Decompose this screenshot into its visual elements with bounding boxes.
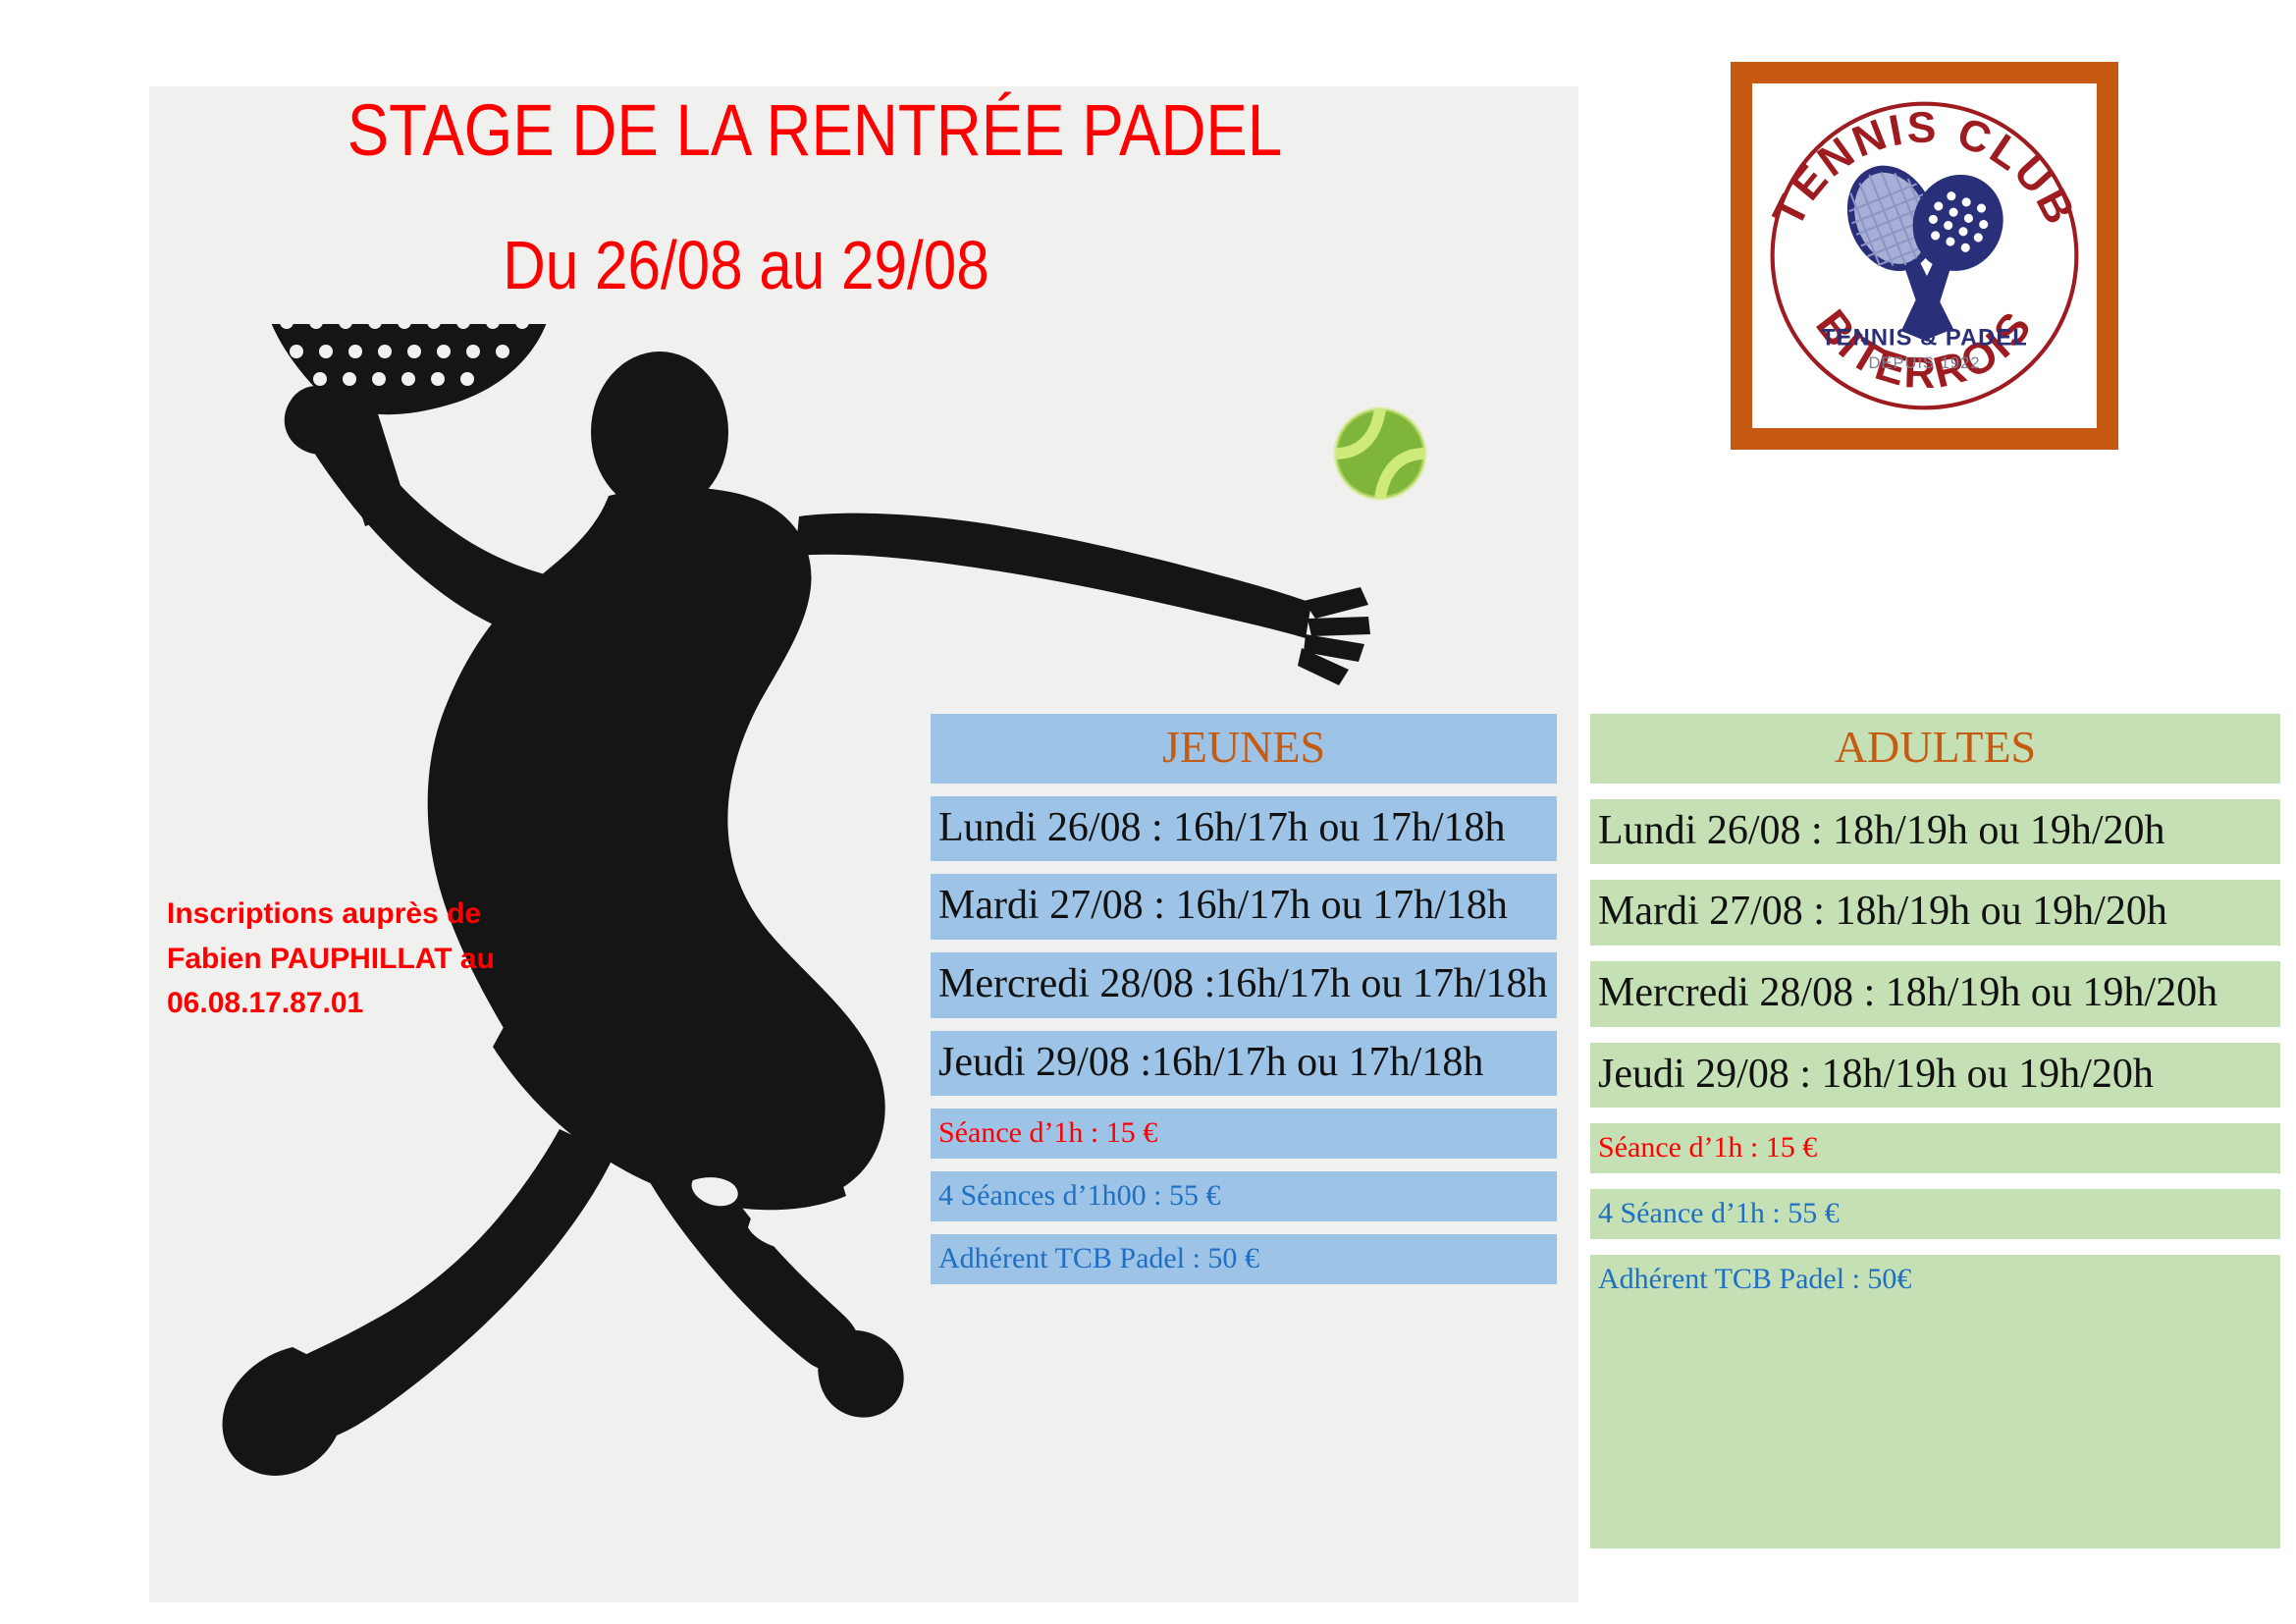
club-logo: TENNIS CLUB BITERROIS (1731, 62, 2118, 450)
logo-center-line-2: DEPUIS 1922 (1868, 354, 1980, 372)
table-row: Jeudi 29/08 : 18h/19h ou 19h/20h (1590, 1043, 2280, 1109)
table-row: Jeudi 29/08 :16h/17h ou 17h/18h (931, 1031, 1557, 1097)
price-row: Adhérent TCB Padel : 50€ (1590, 1255, 2280, 1305)
schedule-table-jeunes: JEUNES Lundi 26/08 : 16h/17h ou 17h/18h … (931, 714, 1557, 1284)
schedule-table-adultes: ADULTES Lundi 26/08 : 18h/19h ou 19h/20h… (1590, 714, 2280, 1548)
price-row: Séance d’1h : 15 € (1590, 1123, 2280, 1173)
page-title: STAGE DE LA RENTRÉE PADEL (266, 88, 1363, 172)
table-row: Mardi 27/08 : 16h/17h ou 17h/18h (931, 874, 1557, 940)
price-row: Séance d’1h : 15 € (931, 1109, 1557, 1159)
price-row: 4 Séance d’1h : 55 € (1590, 1189, 2280, 1239)
tennis-club-biterrois-logo-icon: TENNIS CLUB BITERROIS (1752, 83, 2097, 428)
table-filler-adultes (1590, 1305, 2280, 1548)
inscription-block: Inscriptions auprès de Fabien PAUPHILLAT… (167, 892, 628, 1026)
table-row: Mercredi 28/08 :16h/17h ou 17h/18h (931, 952, 1557, 1018)
table-row: Mercredi 28/08 : 18h/19h ou 19h/20h (1590, 961, 2280, 1027)
price-row: 4 Séances d’1h00 : 55 € (931, 1171, 1557, 1221)
table-row: Lundi 26/08 : 16h/17h ou 17h/18h (931, 796, 1557, 862)
logo-center-line-1: TENNIS & PADEL (1821, 325, 2028, 351)
inscription-phone: 06.08.17.87.01 (167, 981, 628, 1026)
table-header-jeunes: JEUNES (931, 714, 1557, 784)
tennis-ball-icon (1327, 401, 1433, 507)
price-row: Adhérent TCB Padel : 50 € (931, 1234, 1557, 1284)
poster-canvas: STAGE DE LA RENTRÉE PADEL Du 26/08 au 29… (0, 0, 2296, 1624)
table-row: Lundi 26/08 : 18h/19h ou 19h/20h (1590, 799, 2280, 865)
inscription-line-2: Fabien PAUPHILLAT au (167, 937, 628, 982)
table-row: Mardi 27/08 : 18h/19h ou 19h/20h (1590, 880, 2280, 946)
inscription-line-1: Inscriptions auprès de (167, 892, 628, 937)
table-header-adultes: ADULTES (1590, 714, 2280, 784)
page-subtitle-dates: Du 26/08 au 29/08 (256, 226, 1236, 304)
